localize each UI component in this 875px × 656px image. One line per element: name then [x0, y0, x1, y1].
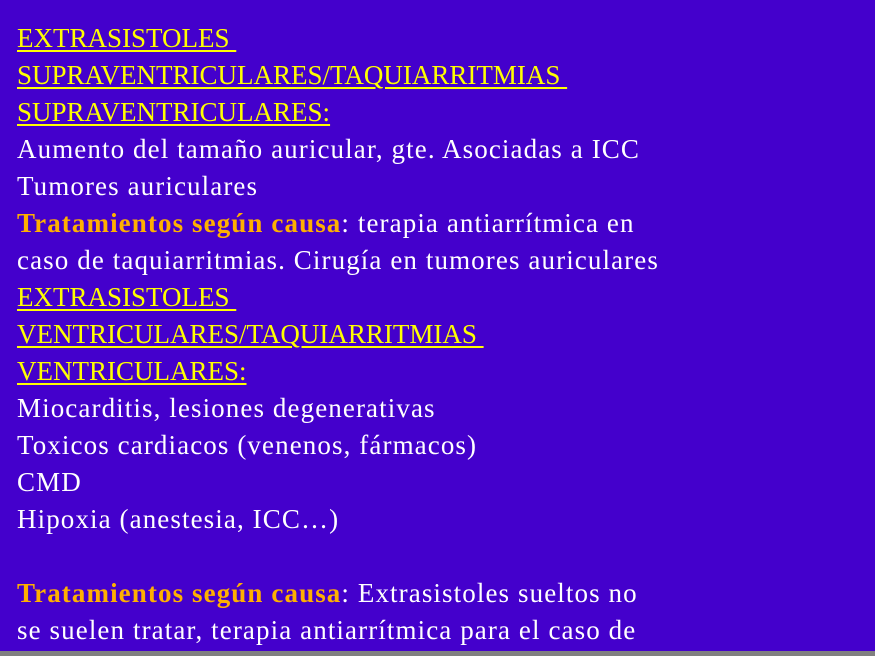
slide-body-line: Aumento del tamaño auricular, gte. Asoci… [17, 131, 875, 168]
slide-heading-line: EXTRASISTOLES [17, 20, 875, 57]
slide-text-body: EXTRASISTOLES SUPRAVENTRICULARES/TAQUIAR… [0, 0, 875, 656]
slide-body-line: Tumores auriculares [17, 168, 875, 205]
slide-heading-line: EXTRASISTOLES [17, 279, 875, 316]
treatment-detail: : terapia antiarrítmica en [341, 208, 634, 238]
slide-body-line: Toxicos cardiacos (venenos, fármacos) [17, 427, 875, 464]
slide-blank-line [17, 538, 875, 575]
slide-heading-line: SUPRAVENTRICULARES: [17, 94, 875, 131]
slide-body-line: CMD [17, 464, 875, 501]
slide-body-line: se suelen tratar, terapia antiarrítmica … [17, 612, 875, 649]
treatment-emphasis: Tratamientos según causa [17, 208, 341, 238]
slide-treatment-line: Tratamientos según causa: terapia antiar… [17, 205, 875, 242]
slide-heading-line: VENTRICULARES/TAQUIARRITMIAS [17, 316, 875, 353]
slide-body-line: caso de taquiarritmias. Cirugía en tumor… [17, 242, 875, 279]
bottom-scroll-bar[interactable] [0, 651, 875, 656]
treatment-detail: : Extrasistoles sueltos no [341, 578, 637, 608]
treatment-emphasis: Tratamientos según causa [17, 578, 341, 608]
slide-body-line: Hipoxia (anestesia, ICC…) [17, 501, 875, 538]
slide-treatment-line: Tratamientos según causa: Extrasistoles … [17, 575, 875, 612]
slide-body-line: Miocarditis, lesiones degenerativas [17, 390, 875, 427]
slide-heading-line: SUPRAVENTRICULARES/TAQUIARRITMIAS [17, 57, 875, 94]
slide-canvas: EXTRASISTOLES SUPRAVENTRICULARES/TAQUIAR… [0, 0, 875, 656]
slide-heading-line: VENTRICULARES: [17, 353, 875, 390]
